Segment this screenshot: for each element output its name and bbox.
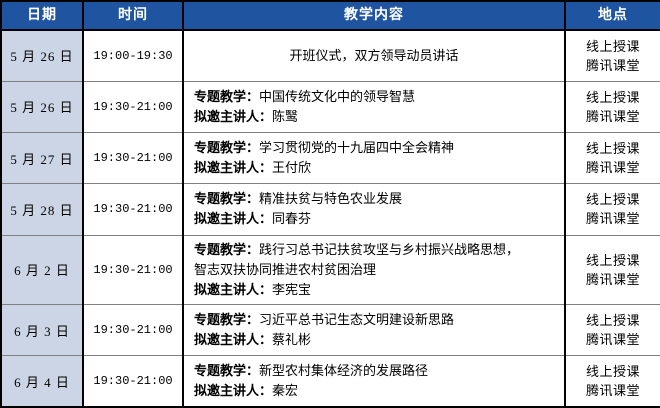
column-header-content: 教学内容 — [183, 1, 565, 30]
content-line: 专题教学：新型农村集体经济的发展路径 — [194, 361, 558, 381]
content-line: 专题教学：践行习总书记扶贫攻坚与乡村振兴战略思想， — [194, 240, 558, 260]
cell-date: 5 月 26 日 — [1, 81, 83, 132]
content-line-text: 新型农村集体经济的发展路径 — [259, 363, 428, 378]
cell-time: 19:00-19:30 — [83, 30, 183, 81]
place-line: 腾讯课堂 — [566, 381, 660, 400]
content-line-label: 拟邀主讲人： — [194, 332, 272, 347]
cell-date: 6 月 3 日 — [1, 304, 83, 355]
cell-place: 线上授课腾讯课堂 — [565, 304, 660, 355]
table-row: 6 月 2 日19:30-21:00专题教学：践行习总书记扶贫攻坚与乡村振兴战略… — [1, 235, 660, 304]
content-line-label: 拟邀主讲人： — [194, 383, 272, 398]
place-line: 线上授课 — [566, 251, 660, 270]
table-row: 5 月 28 日19:30-21:00专题教学：精准扶贫与特色农业发展拟邀主讲人… — [1, 184, 660, 235]
training-schedule-table: 日期 时间 教学内容 地点 5 月 26 日19:00-19:30开班仪式，双方… — [0, 0, 660, 408]
content-line: 专题教学：中国传统文化中的领导智慧 — [194, 87, 558, 107]
content-line-text: 学习贯彻党的十九届四中全会精神 — [259, 140, 454, 155]
content-line-label: 专题教学： — [194, 242, 259, 257]
place-line: 腾讯课堂 — [566, 270, 660, 289]
content-line-label: 专题教学： — [194, 363, 259, 378]
cell-time: 19:30-21:00 — [83, 304, 183, 355]
content-line-label: 专题教学： — [194, 140, 259, 155]
cell-place: 线上授课腾讯课堂 — [565, 356, 660, 407]
cell-content: 开班仪式，双方领导动员讲话 — [183, 30, 565, 81]
content-line-label: 拟邀主讲人： — [194, 160, 272, 175]
place-line: 线上授课 — [566, 37, 660, 56]
place-line: 腾讯课堂 — [566, 56, 660, 75]
column-header-date: 日期 — [1, 1, 83, 30]
cell-time: 19:30-21:00 — [83, 356, 183, 407]
cell-time: 19:30-21:00 — [83, 81, 183, 132]
content-line-label: 专题教学： — [194, 191, 259, 206]
place-line: 线上授课 — [566, 139, 660, 158]
content-line: 专题教学：习近平总书记生态文明建设新思路 — [194, 310, 558, 330]
cell-date: 6 月 2 日 — [1, 235, 83, 304]
place-line: 腾讯课堂 — [566, 209, 660, 228]
cell-date: 5 月 27 日 — [1, 133, 83, 184]
cell-place: 线上授课腾讯课堂 — [565, 133, 660, 184]
content-line-text: 习近平总书记生态文明建设新思路 — [259, 312, 454, 327]
content-line-text: 中国传统文化中的领导智慧 — [259, 89, 415, 104]
content-line-label: 专题教学： — [194, 89, 259, 104]
table-row: 5 月 27 日19:30-21:00专题教学：学习贯彻党的十九届四中全会精神拟… — [1, 133, 660, 184]
cell-content: 专题教学：精准扶贫与特色农业发展拟邀主讲人：同春芬 — [183, 184, 565, 235]
content-line-text: 践行习总书记扶贫攻坚与乡村振兴战略思想， — [259, 242, 519, 257]
cell-time: 19:30-21:00 — [83, 235, 183, 304]
place-line: 线上授课 — [566, 88, 660, 107]
table-header: 日期 时间 教学内容 地点 — [1, 1, 660, 30]
content-line: 拟邀主讲人：秦宏 — [194, 381, 558, 401]
content-line-label: 拟邀主讲人： — [194, 211, 272, 226]
place-line: 线上授课 — [566, 311, 660, 330]
table-header-row: 日期 时间 教学内容 地点 — [1, 1, 660, 30]
place-line: 线上授课 — [566, 362, 660, 381]
table-body: 5 月 26 日19:00-19:30开班仪式，双方领导动员讲话线上授课腾讯课堂… — [1, 30, 660, 407]
cell-place: 线上授课腾讯课堂 — [565, 30, 660, 81]
content-line-label: 专题教学： — [194, 312, 259, 327]
content-line-text: 精准扶贫与特色农业发展 — [259, 191, 402, 206]
content-line: 智志双扶协同推进农村贫困治理 — [194, 260, 558, 280]
content-line-text: 蔡礼彬 — [272, 332, 311, 347]
content-line: 拟邀主讲人：王付欣 — [194, 158, 558, 178]
table-row: 6 月 4 日19:30-21:00专题教学：新型农村集体经济的发展路径拟邀主讲… — [1, 356, 660, 407]
place-line: 腾讯课堂 — [566, 107, 660, 126]
cell-content: 专题教学：中国传统文化中的领导智慧拟邀主讲人：陈鹥 — [183, 81, 565, 132]
cell-content: 专题教学：新型农村集体经济的发展路径拟邀主讲人：秦宏 — [183, 356, 565, 407]
content-line-label: 拟邀主讲人： — [194, 109, 272, 124]
content-line-text: 陈鹥 — [272, 109, 298, 124]
content-line: 拟邀主讲人：同春芬 — [194, 209, 558, 229]
place-line: 腾讯课堂 — [566, 330, 660, 349]
column-header-place: 地点 — [565, 1, 660, 30]
content-line-text: 智志双扶协同推进农村贫困治理 — [194, 262, 376, 277]
content-line-text: 李宪宝 — [272, 282, 311, 297]
cell-date: 5 月 26 日 — [1, 30, 83, 81]
content-line-text: 秦宏 — [272, 383, 298, 398]
cell-place: 线上授课腾讯课堂 — [565, 235, 660, 304]
table-row: 5 月 26 日19:00-19:30开班仪式，双方领导动员讲话线上授课腾讯课堂 — [1, 30, 660, 81]
table-row: 5 月 26 日19:30-21:00专题教学：中国传统文化中的领导智慧拟邀主讲… — [1, 81, 660, 132]
cell-date: 5 月 28 日 — [1, 184, 83, 235]
column-header-time: 时间 — [83, 1, 183, 30]
cell-time: 19:30-21:00 — [83, 133, 183, 184]
content-line-text: 开班仪式，双方领导动员讲话 — [289, 48, 458, 63]
content-line: 拟邀主讲人：陈鹥 — [194, 107, 558, 127]
cell-place: 线上授课腾讯课堂 — [565, 184, 660, 235]
table-row: 6 月 3 日19:30-21:00专题教学：习近平总书记生态文明建设新思路拟邀… — [1, 304, 660, 355]
content-line: 开班仪式，双方领导动员讲话 — [184, 46, 564, 66]
content-line: 专题教学：精准扶贫与特色农业发展 — [194, 189, 558, 209]
place-line: 线上授课 — [566, 190, 660, 209]
cell-time: 19:30-21:00 — [83, 184, 183, 235]
cell-content: 专题教学：学习贯彻党的十九届四中全会精神拟邀主讲人：王付欣 — [183, 133, 565, 184]
cell-content: 专题教学：践行习总书记扶贫攻坚与乡村振兴战略思想，智志双扶协同推进农村贫困治理拟… — [183, 235, 565, 304]
content-line: 拟邀主讲人：李宪宝 — [194, 280, 558, 300]
content-line: 专题教学：学习贯彻党的十九届四中全会精神 — [194, 138, 558, 158]
content-line-text: 王付欣 — [272, 160, 311, 175]
content-line-label: 拟邀主讲人： — [194, 282, 272, 297]
cell-content: 专题教学：习近平总书记生态文明建设新思路拟邀主讲人：蔡礼彬 — [183, 304, 565, 355]
place-line: 腾讯课堂 — [566, 158, 660, 177]
cell-date: 6 月 4 日 — [1, 356, 83, 407]
content-line-text: 同春芬 — [272, 211, 311, 226]
content-line: 拟邀主讲人：蔡礼彬 — [194, 330, 558, 350]
cell-place: 线上授课腾讯课堂 — [565, 81, 660, 132]
